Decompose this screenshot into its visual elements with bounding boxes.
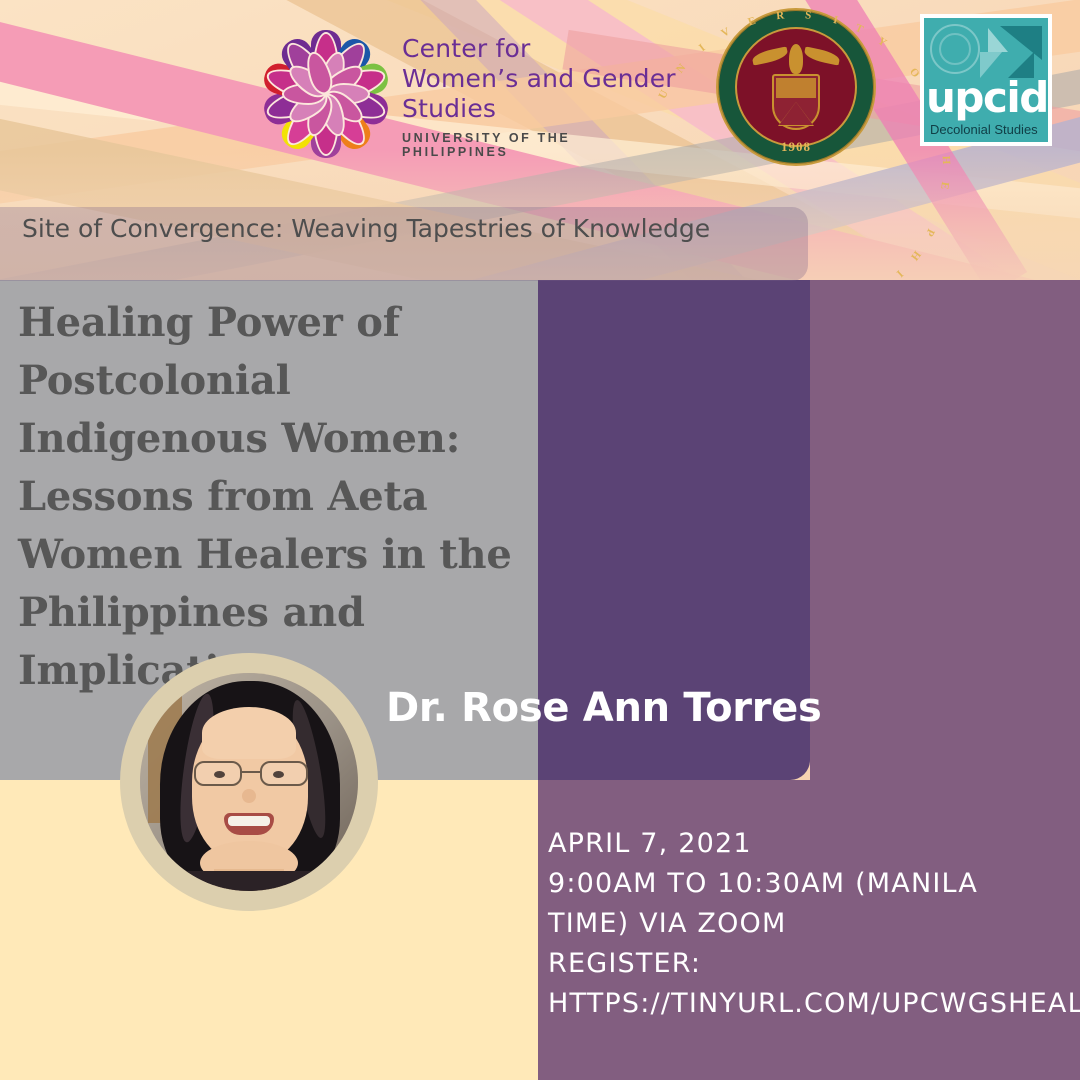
up-seal-year: 1908 (716, 139, 876, 155)
cwgs-line-1: Center for (402, 34, 682, 64)
cwgs-line-2: Women’s and Gender (402, 64, 682, 94)
event-poster: Center for Women’s and Gender Studies UN… (0, 0, 1080, 1080)
cwgs-line-3: Studies (402, 94, 682, 124)
cwgs-logo: Center for Women’s and Gender Studies UN… (262, 18, 682, 166)
page-title: Healing Power of Postcolonial Indigenous… (18, 294, 548, 700)
event-detail-time: 9:00AM to 10:30AM (Manila Time) via Zoom (548, 864, 1068, 944)
speaker-name: Dr. Rose Ann Torres (386, 684, 1046, 732)
upcids-triangle-icon (988, 28, 1008, 52)
event-details: April 7, 2021 9:00AM to 10:30AM (Manila … (548, 824, 1068, 1024)
upcids-logo: upcids Decolonial Studies (920, 14, 1052, 146)
speaker-avatar-ring (120, 653, 378, 911)
logo-row: Center for Women’s and Gender Studies UN… (0, 0, 1080, 200)
event-detail-date: April 7, 2021 (548, 824, 1068, 864)
series-subtitle: Site of Convergence: Weaving Tapestries … (22, 212, 782, 245)
cwgs-mandala-icon (262, 20, 390, 168)
cwgs-institution: UNIVERSITY OF THE PHILIPPINES (402, 131, 682, 159)
event-detail-register[interactable]: Register: https://tinyurl.com/upcwgsheal… (548, 944, 1068, 1024)
upcids-up-seal-watermark-icon (930, 24, 980, 74)
up-seal-icon: U N I V E R S I T Y O F T H E P H I L I (716, 8, 876, 166)
upcids-wordmark: upcids (926, 76, 1048, 120)
up-seal-shield-icon (772, 74, 820, 130)
cwgs-wordmark: Center for Women’s and Gender Studies UN… (402, 34, 682, 159)
upcids-subtitle: Decolonial Studies (930, 122, 1038, 137)
speaker-avatar-photo (140, 673, 358, 891)
